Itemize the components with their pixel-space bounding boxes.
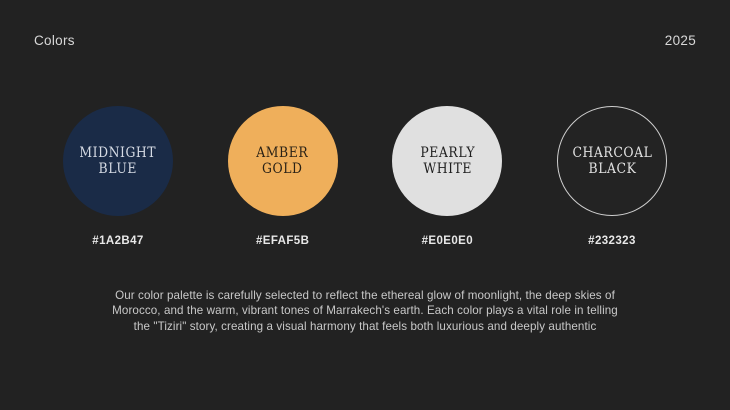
color-swatch-midnight-blue[interactable]: MIDNIGHT BLUE #1A2B47 <box>44 106 192 247</box>
swatch-circle-midnight-blue: MIDNIGHT BLUE <box>63 106 173 216</box>
swatch-circle-amber-gold: AMBER GOLD <box>228 106 338 216</box>
swatch-name-line2: GOLD <box>257 161 309 177</box>
slide-canvas: Colors 2025 MIDNIGHT BLUE #1A2B47 AMBER … <box>0 0 730 410</box>
swatch-name-line1: MIDNIGHT <box>80 145 157 161</box>
swatch-hex-amber-gold: #EFAF5B <box>256 235 309 247</box>
year-label: 2025 <box>665 33 696 48</box>
swatch-name-line1: AMBER <box>257 145 309 161</box>
page-title: Colors <box>34 33 75 48</box>
swatch-hex-pearly-white: #E0E0E0 <box>422 235 473 247</box>
description-line-2: Morocco, and the warm, vibrant tones of … <box>96 303 634 318</box>
color-swatch-charcoal-black[interactable]: CHARCOAL BLACK #232323 <box>538 106 686 247</box>
description-line-3: the "Tiziri" story, creating a visual ha… <box>96 319 634 334</box>
swatch-hex-charcoal-black: #232323 <box>588 235 636 247</box>
swatch-name-amber-gold: AMBER GOLD <box>257 145 309 178</box>
swatch-name-midnight-blue: MIDNIGHT BLUE <box>80 145 157 178</box>
color-swatch-row: MIDNIGHT BLUE #1A2B47 AMBER GOLD #EFAF5B… <box>44 106 686 247</box>
swatch-name-line2: BLUE <box>80 161 157 177</box>
swatch-name-charcoal-black: CHARCOAL BLACK <box>572 145 652 178</box>
swatch-name-pearly-white: PEARLY WHITE <box>420 145 475 178</box>
slide-header: Colors 2025 <box>0 28 730 52</box>
description-line-1: Our color palette is carefully selected … <box>96 288 634 303</box>
swatch-name-line1: PEARLY <box>420 145 475 161</box>
swatch-circle-pearly-white: PEARLY WHITE <box>392 106 502 216</box>
swatch-hex-midnight-blue: #1A2B47 <box>92 235 143 247</box>
swatch-circle-charcoal-black: CHARCOAL BLACK <box>557 106 667 216</box>
palette-description: Our color palette is carefully selected … <box>0 288 730 334</box>
color-swatch-amber-gold[interactable]: AMBER GOLD #EFAF5B <box>209 106 357 247</box>
swatch-name-line2: WHITE <box>420 161 475 177</box>
swatch-name-line2: BLACK <box>572 161 652 177</box>
color-swatch-pearly-white[interactable]: PEARLY WHITE #E0E0E0 <box>373 106 521 247</box>
swatch-name-line1: CHARCOAL <box>572 145 652 161</box>
